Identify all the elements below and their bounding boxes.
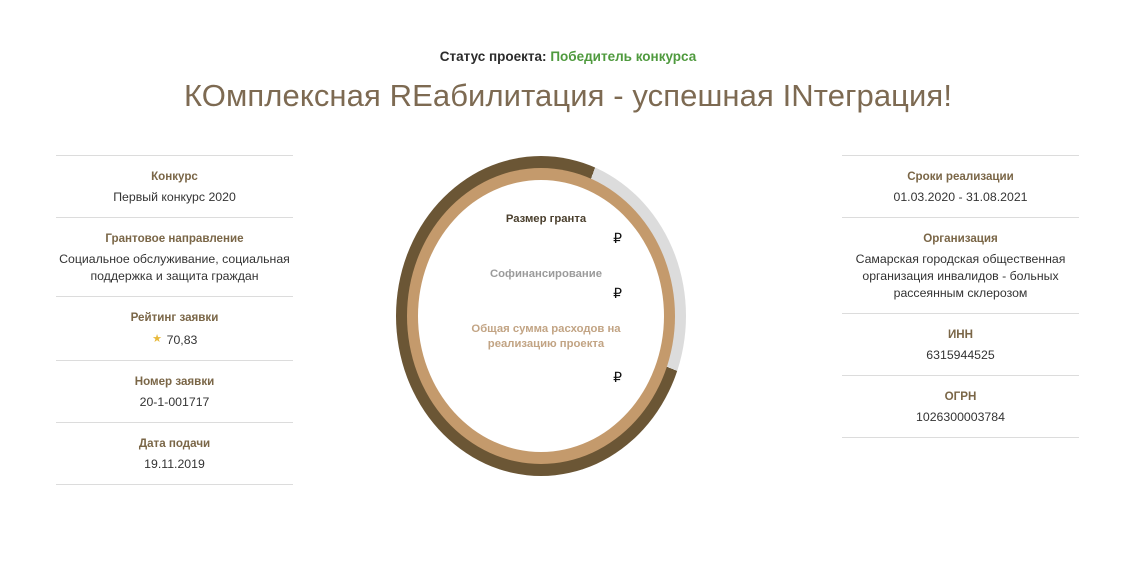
donut-center-labels: Размер гранта ₽ Софинансирование ₽ Общая… <box>458 212 634 392</box>
info-value: 01.03.2020 - 31.08.2021 <box>842 189 1079 206</box>
metric-cofinancing: Софинансирование ₽ <box>458 267 634 312</box>
info-row-application-number: Номер заявки 20-1-001717 <box>56 360 293 422</box>
metric-label: Размер гранта <box>458 212 634 227</box>
info-value: ★ 70,83 <box>152 332 198 349</box>
info-label: ИНН <box>842 327 1079 343</box>
project-status-value: Победитель конкурса <box>550 49 696 64</box>
project-status-label: Статус проекта: <box>440 49 547 64</box>
info-value: 6315944525 <box>842 347 1079 364</box>
info-row-konkurs: Конкурс Первый конкурс 2020 <box>56 155 293 217</box>
info-label: Номер заявки <box>56 374 293 390</box>
budget-donut-chart: Размер гранта ₽ Софинансирование ₽ Общая… <box>396 156 686 476</box>
project-status: Статус проекта: Победитель конкурса <box>0 48 1136 66</box>
info-row-inn: ИНН 6315944525 <box>842 313 1079 375</box>
info-row-application-rating: Рейтинг заявки ★ 70,83 <box>56 296 293 360</box>
metric-value: ₽ <box>458 227 634 257</box>
info-row-implementation-period: Сроки реализации 01.03.2020 - 31.08.2021 <box>842 155 1079 217</box>
info-value: 20-1-001717 <box>56 394 293 411</box>
info-value: Самарская городская общественная организ… <box>842 251 1079 302</box>
info-label: Конкурс <box>56 169 293 185</box>
info-row-ogrn: ОГРН 1026300003784 <box>842 375 1079 438</box>
info-value: 1026300003784 <box>842 409 1079 426</box>
rating-number: 70,83 <box>167 332 198 349</box>
left-info-panel: Конкурс Первый конкурс 2020 Грантовое на… <box>56 155 293 485</box>
info-row-submission-date: Дата подачи 19.11.2019 <box>56 422 293 485</box>
metric-total-expenses: Общая сумма расходов на реализацию проек… <box>458 322 634 382</box>
page-title: КОмплексная REабилитация - успешная INте… <box>120 76 1016 116</box>
info-label: Дата подачи <box>56 436 293 452</box>
right-info-panel: Сроки реализации 01.03.2020 - 31.08.2021… <box>842 155 1079 438</box>
metric-label: Софинансирование <box>458 267 634 282</box>
info-label: Организация <box>842 231 1079 247</box>
metric-label: Общая сумма расходов на реализацию проек… <box>458 322 634 352</box>
info-row-grant-direction: Грантовое направление Социальное обслужи… <box>56 217 293 296</box>
metric-value: ₽ <box>458 282 634 312</box>
info-row-organization: Организация Самарская городская обществе… <box>842 217 1079 313</box>
info-value: 19.11.2019 <box>56 456 293 473</box>
info-label: ОГРН <box>842 389 1079 405</box>
info-label: Рейтинг заявки <box>56 310 293 326</box>
project-card-page: Статус проекта: Победитель конкурса КОмп… <box>0 0 1136 568</box>
star-icon: ★ <box>152 334 163 345</box>
metric-grant-amount: Размер гранта ₽ <box>458 212 634 257</box>
info-value: Социальное обслуживание, социальная подд… <box>56 251 293 285</box>
info-label: Грантовое направление <box>56 231 293 247</box>
metric-value: ₽ <box>458 352 634 382</box>
info-value: Первый конкурс 2020 <box>56 189 293 206</box>
info-label: Сроки реализации <box>842 169 1079 185</box>
